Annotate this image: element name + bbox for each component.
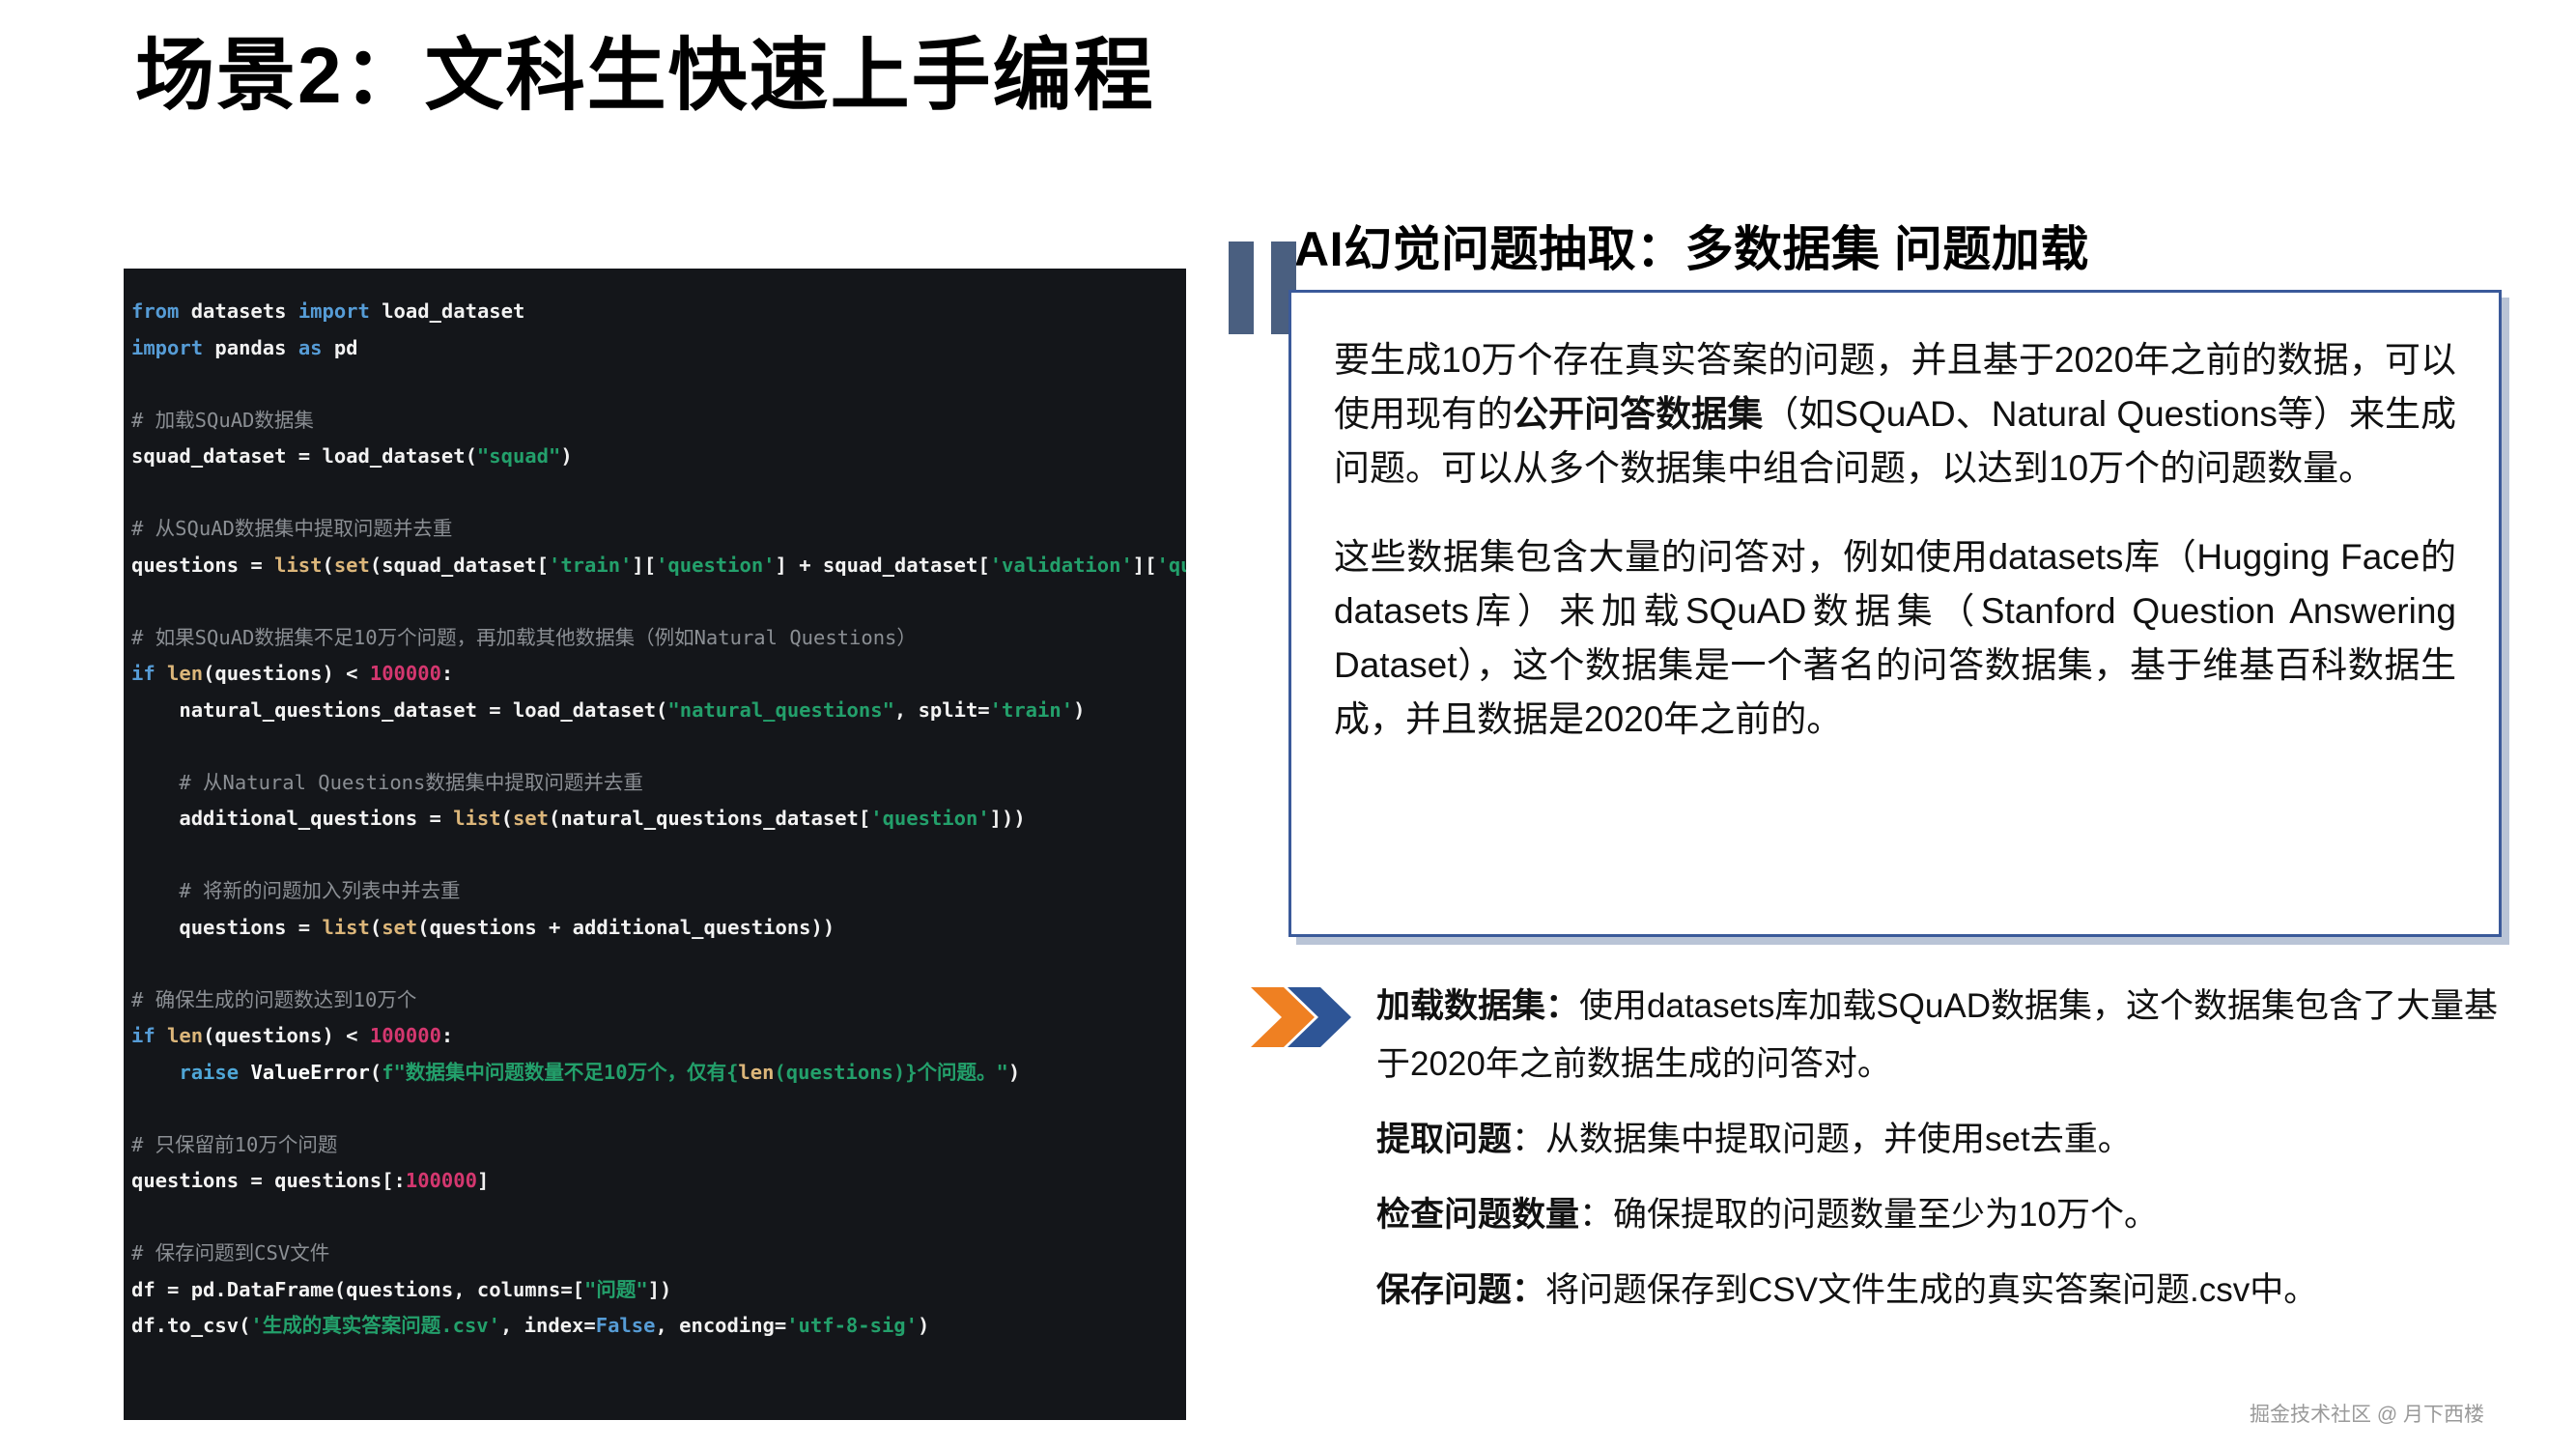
code-line: squad_dataset = load_dataset("squad") [131,439,1186,475]
code-token: df = pd.DataFrame(questions, columns=[ [131,1278,584,1301]
code-token: df.to_csv( [131,1314,250,1337]
code-line: # 确保生成的问题数达到10万个 [131,982,1186,1019]
code-token: set [334,554,370,577]
code-token: (questions) < [203,662,370,685]
quote-text: 这些数据集包含大量的问答对，例如使用datasets库（Hugging Face… [1334,537,2456,739]
code-token: # 加载SQuAD数据集 [131,409,314,432]
code-token: # 从SQuAD数据集中提取问题并去重 [131,517,452,540]
code-token: from [131,299,191,323]
code-token: , split= [894,698,990,722]
code-token: 'validation' [990,554,1133,577]
list-item: 加载数据集：使用datasets库加载SQuAD数据集，这个数据集包含了大量基于… [1376,978,2516,1094]
code-line: natural_questions_dataset = load_dataset… [131,693,1186,729]
right-column: AI幻觉问题抽取：多数据集 问题加载 要生成10万个存在真实答案的问题，并且基于… [1275,0,2521,1449]
code-token: "squad" [477,444,560,468]
code-line: # 加载SQuAD数据集 [131,403,1186,440]
code-token: questions = questions[: [131,1169,406,1192]
footer-credit: 掘金技术社区 @ 月下西楼 [2250,1399,2484,1428]
code-token: (squad_dataset[ [370,554,549,577]
code-token: ValueError [250,1061,369,1084]
code-token: list [453,807,500,830]
code-line: # 从Natural Questions数据集中提取问题并去重 [131,765,1186,802]
code-token: # 确保生成的问题数达到10万个 [131,988,416,1011]
code-line [131,1345,1186,1381]
code-token: as [298,336,334,359]
code-token: pandas [214,336,297,359]
code-token: "natural_questions" [667,698,894,722]
code-line [131,1200,1186,1236]
list-item: 保存问题：将问题保存到CSV文件生成的真实答案问题.csv中。 [1376,1262,2516,1320]
code-token: ( [370,1061,382,1084]
page-title: 场景2：文科生快速上手编程 [135,33,1155,120]
list-item-text: 将问题保存到CSV文件生成的真实答案问题.csv中。 [1545,1271,2317,1309]
code-line [131,946,1186,982]
list-item: 检查问题数量：确保提取的问题数量至少为10万个。 [1376,1186,2516,1244]
code-line [131,1091,1186,1127]
code-token: # 从Natural Questions数据集中提取问题并去重 [131,771,643,794]
code-token: ( [501,807,513,830]
quote-box: 要生成10万个存在真实答案的问题，并且基于2020年之前的数据，可以使用现有的公… [1288,290,2502,937]
code-token: ]) [648,1278,672,1301]
code-token: 'que [1156,554,1186,577]
code-token: (questions + additional_questions)) [417,916,835,939]
code-token: (questions) < [203,1024,370,1047]
code-token: False [596,1314,656,1337]
code-token: ) [560,444,572,468]
code-line: print("已生成10万个问题并保存到生成的真实答案问题.csv") [131,1417,1186,1421]
code-token: # 保存问题到CSV文件 [131,1241,329,1264]
code-line: if len(questions) < 100000: [131,656,1186,693]
list-item-label: 保存问题： [1376,1271,1545,1309]
code-line: raise ValueError(f"数据集中问题数量不足10万个，仅有{len… [131,1055,1186,1092]
code-token: import [131,336,214,359]
arrow-icon [1251,985,1357,1049]
code-token: 100000 [370,1024,441,1047]
code-token: list [274,554,322,577]
code-token: ] [477,1169,489,1192]
code-token: squad_dataset = load_dataset( [131,444,477,468]
code-line: df = pd.DataFrame(questions, columns=["问… [131,1272,1186,1309]
code-token: "问题" [584,1278,648,1301]
code-token: ) [918,1314,929,1337]
bullet-list: 加载数据集：使用datasets库加载SQuAD数据集，这个数据集包含了大量基于… [1376,978,2516,1337]
code-token: ])) [990,807,1026,830]
code-token: natural_questions_dataset = load_dataset… [131,698,667,722]
code-line: import pandas as pd [131,330,1186,367]
code-token: # 只保留前10万个问题 [131,1133,337,1156]
code-token: 'utf-8-sig' [786,1314,918,1337]
code-line: # 从SQuAD数据集中提取问题并去重 [131,511,1186,548]
code-token: import [298,299,382,323]
code-line: questions = questions[:100000] [131,1163,1186,1200]
code-token: len [167,1024,203,1047]
list-item-label: 检查问题数量 [1376,1196,1579,1234]
code-token: : [441,662,453,685]
code-panel: from datasets import load_datasetimport … [124,269,1186,1420]
code-token: list [322,916,369,939]
code-line [131,366,1186,403]
code-token: 'train' [990,698,1073,722]
code-token: 100000 [370,662,441,685]
code-line: additional_questions = list(set(natural_… [131,801,1186,838]
code-token: ][ [632,554,656,577]
code-token: (natural_questions_dataset[ [549,807,870,830]
code-content: from datasets import load_datasetimport … [124,294,1186,1420]
code-line: from datasets import load_dataset [131,294,1186,330]
code-token: # 如果SQuAD数据集不足10万个问题，再加载其他数据集（例如Natural … [131,626,917,649]
list-item-label: 加载数据集： [1376,987,1579,1025]
code-line: # 保存问题到CSV文件 [131,1236,1186,1272]
code-token: set [513,807,549,830]
list-item: 提取问题：从数据集中提取问题，并使用set去重。 [1376,1111,2516,1169]
code-line: if len(questions) < 100000: [131,1018,1186,1055]
code-line [131,728,1186,765]
code-token [131,1061,179,1084]
code-token: if [131,1024,167,1047]
code-token: : [441,1024,453,1047]
code-token: ( [322,554,333,577]
code-token: f"数据集中问题数量不足10万个，仅有{ [382,1061,738,1084]
code-line: # 只保留前10万个问题 [131,1127,1186,1164]
quote-emphasis: 公开问答数据集 [1513,394,1763,434]
code-token: additional_questions = [131,807,453,830]
code-line [131,583,1186,620]
quote-paragraph: 这些数据集包含大量的问答对，例如使用datasets库（Hugging Face… [1334,530,2456,747]
code-token: ][ [1133,554,1157,577]
code-token: , encoding= [655,1314,786,1337]
code-token: load_dataset [382,299,524,323]
code-line [131,838,1186,874]
code-line [131,1380,1186,1417]
code-token: if [131,662,167,685]
code-token: ) [1008,1061,1020,1084]
section-heading: AI幻觉问题抽取：多数据集 问题加载 [1294,211,2089,280]
code-line: df.to_csv('生成的真实答案问题.csv', index=False, … [131,1308,1186,1345]
code-token: pd [334,336,358,359]
code-token: len [738,1061,774,1084]
code-token: }个问题。" [905,1061,1008,1084]
code-token: 100000 [406,1169,477,1192]
code-line: # 将新的问题加入列表中并去重 [131,873,1186,910]
code-token: 'question' [656,554,775,577]
quote-paragraph: 要生成10万个存在真实答案的问题，并且基于2020年之前的数据，可以使用现有的公… [1334,333,2456,496]
code-token: raise [179,1061,250,1084]
code-token: ) [1073,698,1085,722]
list-item-text: ：确保提取的问题数量至少为10万个。 [1579,1196,2158,1234]
code-token: questions = [131,554,274,577]
code-token: len [167,662,203,685]
list-item-label: 提取问题 [1376,1121,1512,1158]
code-token: '生成的真实答案问题.csv' [250,1314,500,1337]
list-item-text: ：从数据集中提取问题，并使用set去重。 [1512,1121,2132,1158]
code-token: # 将新的问题加入列表中并去重 [131,879,461,902]
code-token: (questions) [774,1061,905,1084]
code-token: 'train' [549,554,632,577]
code-token: , index= [500,1314,596,1337]
code-token: datasets [191,299,298,323]
code-token: ] + squad_dataset[ [776,554,990,577]
code-token: questions = [131,916,322,939]
code-line: questions = list(set(squad_dataset['trai… [131,548,1186,584]
code-token: 'question' [870,807,989,830]
code-line: questions = list(set(questions + additio… [131,910,1186,947]
code-line: # 如果SQuAD数据集不足10万个问题，再加载其他数据集（例如Natural … [131,620,1186,657]
code-line [131,475,1186,512]
code-token: ( [370,916,382,939]
code-token: set [382,916,417,939]
